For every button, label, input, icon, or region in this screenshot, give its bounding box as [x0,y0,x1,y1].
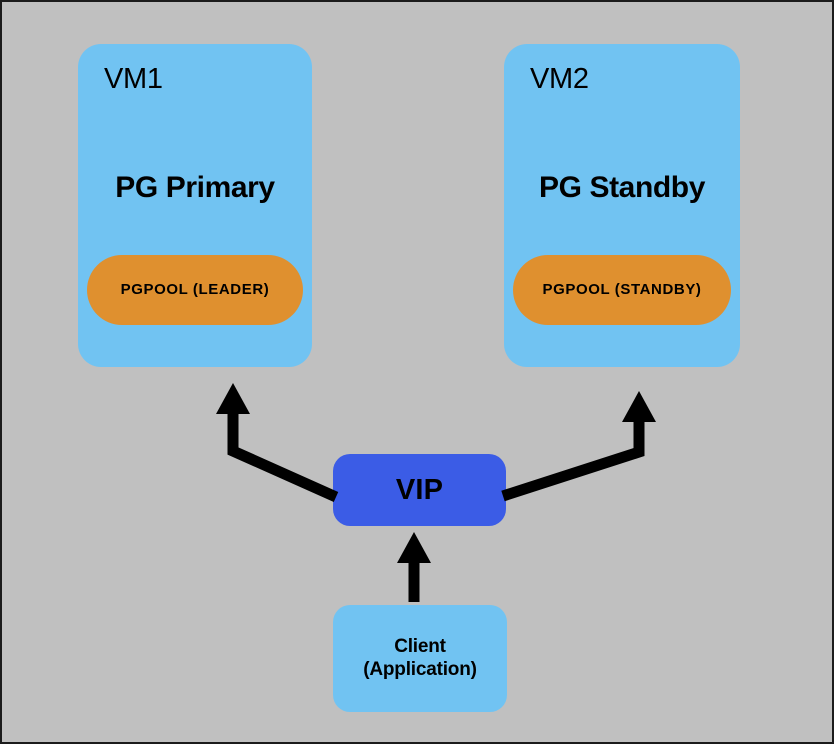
connector-client-to-vip [397,532,431,602]
vm1-pgpool-badge[interactable]: PGPOOL (LEADER) [87,255,303,325]
vm1-role-label: PG Primary [78,170,312,205]
connector-vip-to-vm2 [503,391,656,496]
vip-node[interactable]: VIP [333,454,506,526]
client-label-line2: (Application) [363,659,477,681]
vm2-pgpool-badge[interactable]: PGPOOL (STANDBY) [513,255,731,325]
vm2-title: VM2 [530,62,589,96]
client-label-line1: Client [394,636,446,658]
vip-label: VIP [396,473,443,507]
vm2-role-label: PG Standby [504,170,740,205]
connector-vip-to-vm1 [216,383,336,497]
vm1-title: VM1 [104,62,163,96]
vm1-container[interactable]: VM1 PG Primary PGPOOL (LEADER) [78,44,312,367]
client-node[interactable]: Client (Application) [333,605,507,712]
vm2-pgpool-label: PGPOOL (STANDBY) [542,281,701,299]
diagram-canvas: VM1 PG Primary PGPOOL (LEADER) VM2 PG St… [0,0,834,744]
vm1-pgpool-label: PGPOOL (LEADER) [121,281,270,299]
vm2-container[interactable]: VM2 PG Standby PGPOOL (STANDBY) [504,44,740,367]
